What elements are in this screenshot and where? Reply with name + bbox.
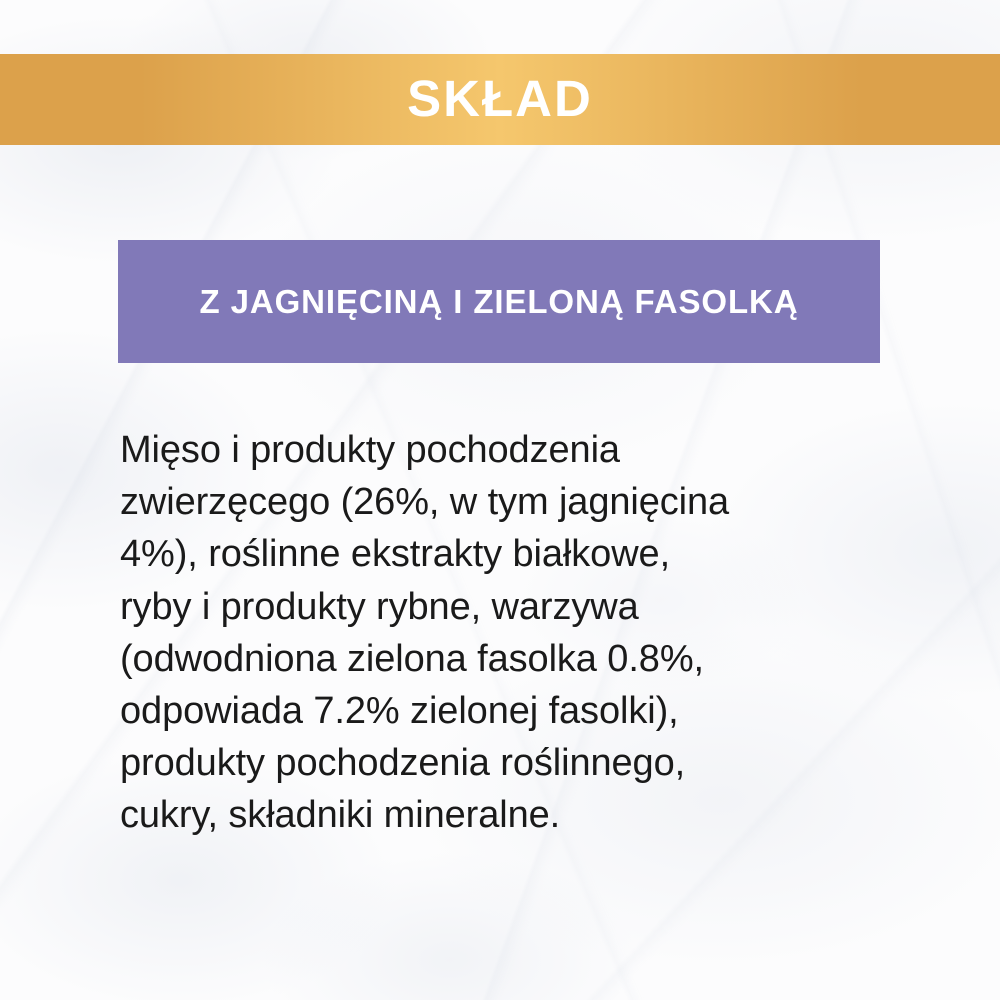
ingredients-line: (odwodniona zielona fasolka 0.8%, [120, 633, 910, 685]
variant-name-band: Z JAGNIĘCINĄ I ZIELONĄ FASOLKĄ [118, 240, 880, 363]
ingredients-line: odpowiada 7.2% zielonej fasolki), [120, 685, 910, 737]
page-title: SKŁAD [407, 73, 593, 124]
ingredients-line: ryby i produkty rybne, warzywa [120, 581, 910, 633]
header-banner: SKŁAD [0, 54, 1000, 145]
ingredients-line: cukry, składniki mineralne. [120, 789, 910, 841]
ingredients-line: 4%), roślinne ekstrakty białkowe, [120, 528, 910, 580]
ingredients-text-block: Mięso i produkty pochodzenia zwierzęcego… [120, 424, 910, 842]
ingredients-line: produkty pochodzenia roślinnego, [120, 737, 910, 789]
ingredients-label-canvas: SKŁAD Z JAGNIĘCINĄ I ZIELONĄ FASOLKĄ Mię… [0, 0, 1000, 1000]
variant-name-label: Z JAGNIĘCINĄ I ZIELONĄ FASOLKĄ [199, 285, 798, 318]
ingredients-line: zwierzęcego (26%, w tym jagnięcina [120, 476, 910, 528]
ingredients-line: Mięso i produkty pochodzenia [120, 424, 910, 476]
